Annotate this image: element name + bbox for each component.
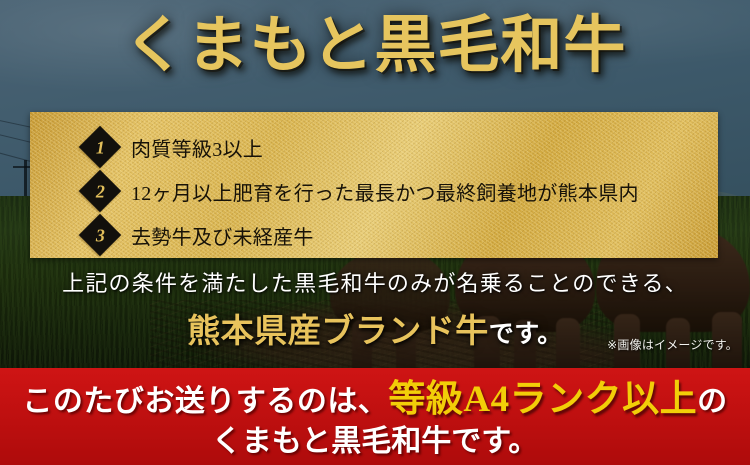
diamond-badge-2: 2 (79, 170, 121, 212)
copy-line-1: 上記の条件を満たした黒毛和牛のみが名乗ることのできる、 (0, 266, 750, 298)
condition-text: 12ヶ月以上肥育を行った最長かつ最終飼養地が熊本県内 (131, 177, 639, 206)
diamond-badge-1: 1 (79, 126, 121, 168)
brand-name: 熊本県産ブランド牛 (187, 314, 489, 350)
redbar-prefix: このたびお送りするのは、 (22, 385, 388, 418)
condition-row: 3 去勢牛及び未経産牛 (30, 213, 718, 257)
conditions-panel: 1 肉質等級3以上 2 12ヶ月以上肥育を行った最長かつ最終飼養地が熊本県内 3… (30, 112, 718, 258)
diamond-badge-3: 3 (79, 214, 121, 256)
condition-number: 1 (96, 138, 105, 156)
bottom-red-banner: このたびお送りするのは、等級A4ランク以上の くまもと黒毛和牛です。 (0, 368, 750, 465)
page-title: くまもと黒毛和牛 (0, 14, 750, 80)
redbar-line-1: このたびお送りするのは、等級A4ランク以上の (0, 377, 750, 423)
condition-row: 1 肉質等級3以上 (30, 125, 718, 169)
brand-suffix: です。 (489, 321, 563, 348)
condition-number: 2 (96, 182, 105, 200)
image-disclaimer: ※画像はイメージです。 (607, 336, 738, 353)
redbar-emphasis: 等級A4ランク以上 (388, 379, 697, 420)
promo-banner: くまもと黒毛和牛 1 肉質等級3以上 2 12ヶ月以上肥育を行った最長かつ最終飼… (0, 0, 750, 465)
condition-number: 3 (96, 226, 105, 244)
condition-text: 肉質等級3以上 (131, 133, 263, 162)
condition-text: 去勢牛及び未経産牛 (131, 221, 314, 250)
condition-row: 2 12ヶ月以上肥育を行った最長かつ最終飼養地が熊本県内 (30, 169, 718, 213)
redbar-suffix: の (697, 385, 728, 418)
redbar-line-2: くまもと黒毛和牛です。 (0, 423, 750, 461)
